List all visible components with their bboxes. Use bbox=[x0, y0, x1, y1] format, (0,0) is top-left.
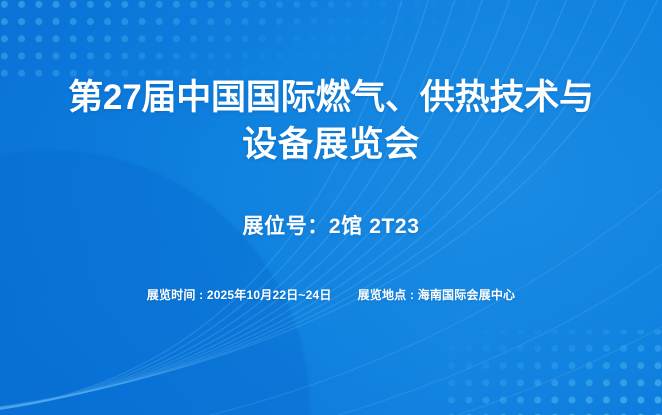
title-line-1: 第27届中国国际燃气、供热技术与 bbox=[41, 74, 621, 121]
exhibition-date: 展览时间 : 2025年10月22日~24日 bbox=[147, 286, 332, 303]
booth-number: 展位号：2馆 2T23 bbox=[243, 210, 420, 240]
page-title: 第27届中国国际燃气、供热技术与 设备展览会 bbox=[41, 74, 621, 168]
banner-footer: 展览时间 : 2025年10月22日~24日 展览地点 : 海南国际会展中心 bbox=[147, 286, 515, 303]
exhibition-venue: 展览地点 : 海南国际会展中心 bbox=[358, 286, 516, 303]
exhibition-banner: 第27届中国国际燃气、供热技术与 设备展览会 展位号：2馆 2T23 展览时间 … bbox=[0, 0, 662, 415]
title-line-2: 设备展览会 bbox=[41, 121, 621, 168]
banner-content: 第27届中国国际燃气、供热技术与 设备展览会 展位号：2馆 2T23 展览时间 … bbox=[0, 0, 662, 415]
